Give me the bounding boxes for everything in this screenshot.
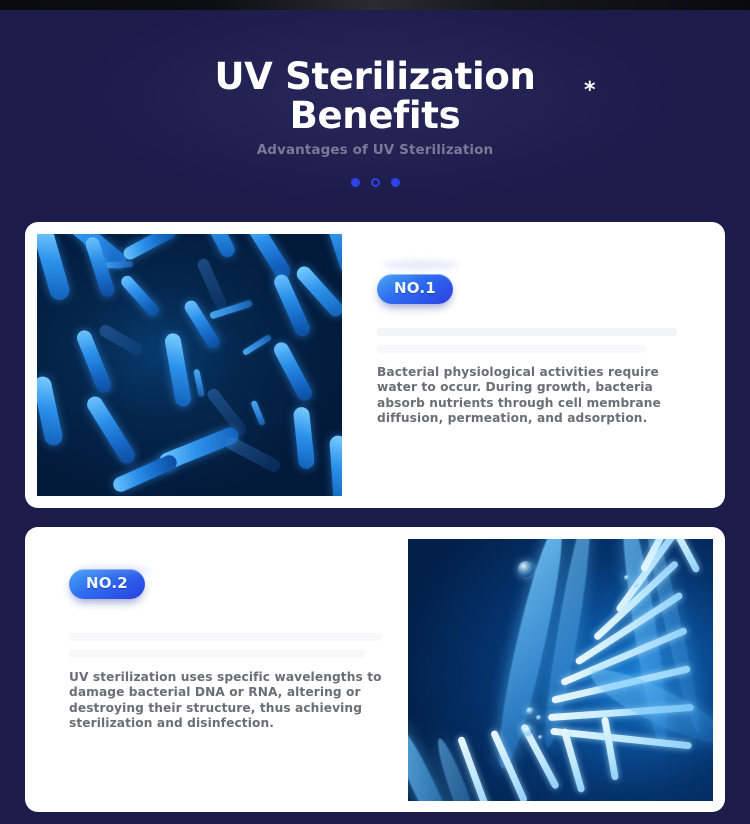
- badge-no-2: NO.2: [69, 569, 145, 599]
- dna-helix-illustration: [408, 539, 713, 801]
- card-2-body-text: UV sterilization uses specific wavelengt…: [69, 670, 394, 731]
- card-2-placeholder-lines: [69, 633, 399, 658]
- top-edge-strip: [0, 0, 750, 10]
- product-detail-page: UV Sterilization Benefits * Advantages o…: [0, 0, 750, 824]
- carousel-dot-2[interactable]: [371, 178, 380, 187]
- badge-no-1: NO.1: [377, 274, 453, 304]
- benefit-card-1: NO.1 Bacterial physiological activities …: [25, 222, 725, 508]
- carousel-dot-3[interactable]: [391, 178, 400, 187]
- star-icon: *: [584, 80, 596, 102]
- carousel-dots[interactable]: [0, 178, 750, 187]
- page-title: UV Sterilization Benefits: [0, 57, 750, 135]
- carousel-dot-1[interactable]: [351, 178, 360, 187]
- card-1-content: NO.1 Bacterial physiological activities …: [377, 234, 707, 426]
- card-1-placeholder-lines: [377, 328, 707, 353]
- hero-banner: UV Sterilization Benefits * Advantages o…: [0, 10, 750, 215]
- benefit-card-2: NO.2 UV sterilization uses specific wave…: [25, 527, 725, 812]
- card-2-content: NO.2 UV sterilization uses specific wave…: [69, 539, 399, 731]
- card-1-body-text: Bacterial physiological activities requi…: [377, 365, 699, 426]
- page-subtitle: Advantages of UV Sterilization: [0, 142, 750, 159]
- bacteria-illustration: [37, 234, 342, 496]
